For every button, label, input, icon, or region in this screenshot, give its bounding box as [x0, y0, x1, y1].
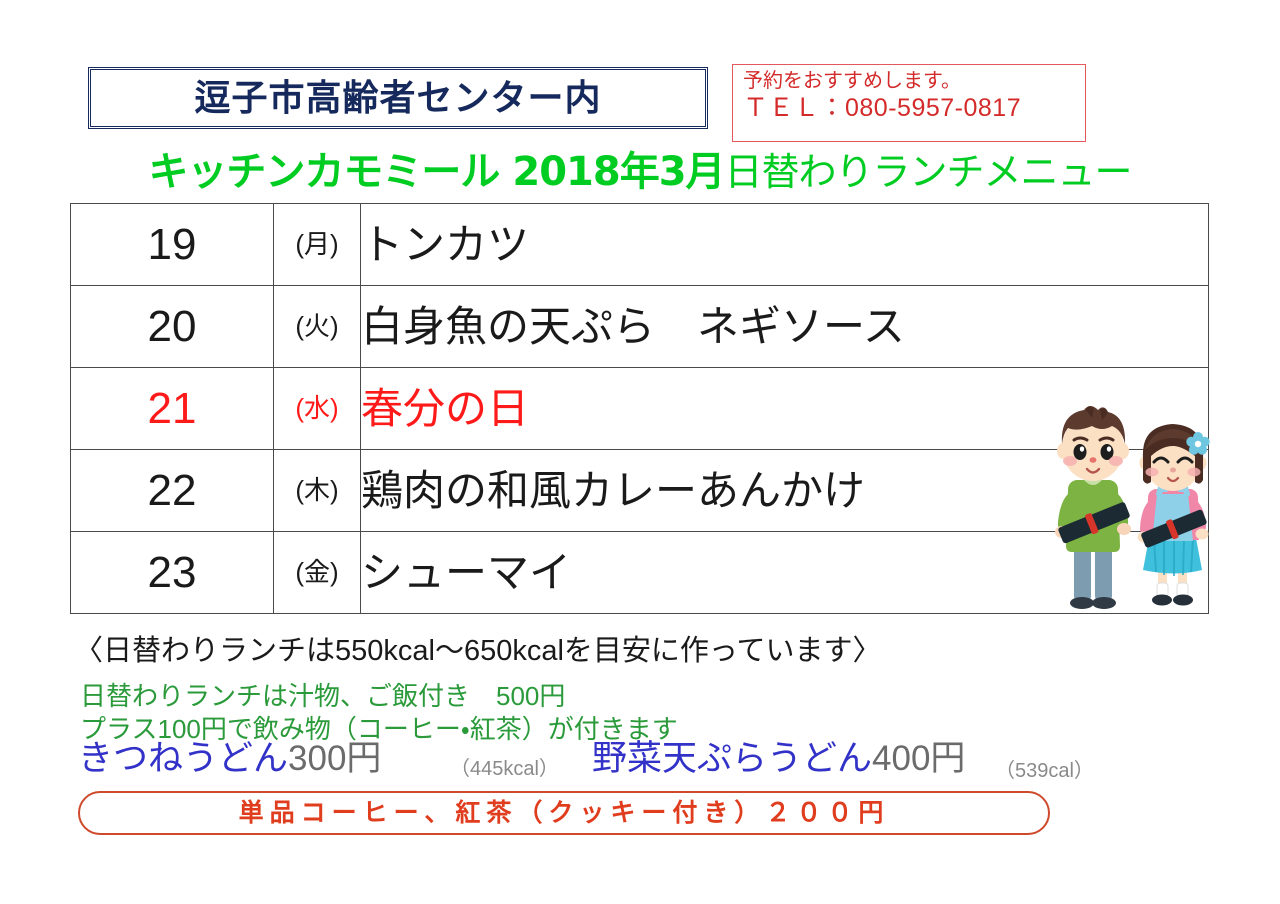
- weekday-label: (火): [295, 311, 338, 341]
- facility-name-text: 逗子市高齢者センター内: [194, 80, 601, 116]
- menu-title-row: キッチンカモミール 2018年3月日替わりランチメニュー: [0, 152, 1280, 192]
- udon-kitsune-calories: （445kcal）: [450, 759, 559, 779]
- holiday-name: 春分の日: [361, 385, 529, 432]
- weekday-label: (木): [295, 475, 338, 505]
- cell-day: 19: [71, 204, 274, 286]
- cell-dish: トンカツ: [361, 204, 1209, 286]
- cell-dish: シューマイ: [361, 532, 1209, 614]
- facility-name-box: 逗子市高齢者センター内: [88, 67, 708, 129]
- cell-weekday: (火): [274, 286, 361, 368]
- table-row: 23 (金) シューマイ: [71, 532, 1209, 614]
- day-number: 20: [148, 302, 197, 351]
- title-subtitle-text: 日替わりランチメニュー: [725, 152, 1132, 194]
- cell-day: 21: [71, 368, 274, 450]
- udon-kitsune-price: 300円: [288, 739, 381, 778]
- day-number: 19: [148, 220, 197, 269]
- cell-day: 20: [71, 286, 274, 368]
- table-row: 22 (木) 鶏肉の和風カレーあんかけ: [71, 450, 1209, 532]
- day-number: 22: [148, 466, 197, 515]
- menu-poster: 逗子市高齢者センター内 予約をおすすめします。 ＴＥＬ：080-5957-081…: [0, 0, 1280, 904]
- dish-name: シューマイ: [361, 549, 571, 596]
- lunch-menu-table: 19 (月) トンカツ 20 (火) 白身魚の天ぷら ネギソース 21 (水) …: [70, 203, 1209, 614]
- udon-yasai-name: 野菜天ぷらうどん: [592, 739, 872, 778]
- cell-day: 23: [71, 532, 274, 614]
- cell-dish: 鶏肉の和風カレーあんかけ: [361, 450, 1209, 532]
- weekday-label: (金): [295, 557, 338, 587]
- title-brand-text: キッチンカモミール 2018年3月: [148, 149, 724, 195]
- udon-price-row: きつねうどん300円 （445kcal） 野菜天ぷらうどん400円 （539ca…: [78, 741, 1138, 785]
- lunch-set-note: 日替わりランチは汁物、ご飯付き 500円: [80, 683, 565, 709]
- cell-dish: 春分の日: [361, 368, 1209, 450]
- udon-yasai-price: 400円: [872, 739, 965, 778]
- coffee-tea-price-box: 単品コーヒー、紅茶（クッキー付き）２００円: [78, 791, 1050, 835]
- cell-weekday: (水): [274, 368, 361, 450]
- cell-dish: 白身魚の天ぷら ネギソース: [361, 286, 1209, 368]
- cell-weekday: (木): [274, 450, 361, 532]
- udon-item-yasai-tempura: 野菜天ぷらうどん400円: [592, 741, 965, 776]
- dish-name: 白身魚の天ぷら ネギソース: [361, 303, 905, 350]
- cell-weekday: (金): [274, 532, 361, 614]
- table-row-holiday: 21 (水) 春分の日: [71, 368, 1209, 450]
- udon-yasai-calories: （539cal）: [995, 761, 1094, 781]
- telephone-number: ＴＥＬ：080-5957-0817: [743, 93, 1075, 124]
- reservation-note: 予約をおすすめします。: [743, 69, 1075, 93]
- coffee-tea-price-text: 単品コーヒー、紅茶（クッキー付き）２００円: [239, 801, 890, 826]
- udon-item-kitsune: きつねうどん300円: [78, 741, 381, 776]
- udon-kitsune-name: きつねうどん: [78, 739, 288, 778]
- day-number: 23: [148, 548, 197, 597]
- reservation-phone-box: 予約をおすすめします。 ＴＥＬ：080-5957-0817: [732, 64, 1086, 142]
- weekday-label: (水): [295, 393, 338, 423]
- dish-name: トンカツ: [361, 221, 529, 268]
- day-number: 21: [148, 384, 197, 433]
- weekday-label: (月): [295, 229, 338, 259]
- calorie-range-note: 〈日替わりランチは550kcal〜650kcalを目安に作っています〉: [74, 637, 881, 666]
- dish-name: 鶏肉の和風カレーあんかけ: [361, 467, 865, 514]
- cell-weekday: (月): [274, 204, 361, 286]
- table-row: 20 (火) 白身魚の天ぷら ネギソース: [71, 286, 1209, 368]
- table-row: 19 (月) トンカツ: [71, 204, 1209, 286]
- cell-day: 22: [71, 450, 274, 532]
